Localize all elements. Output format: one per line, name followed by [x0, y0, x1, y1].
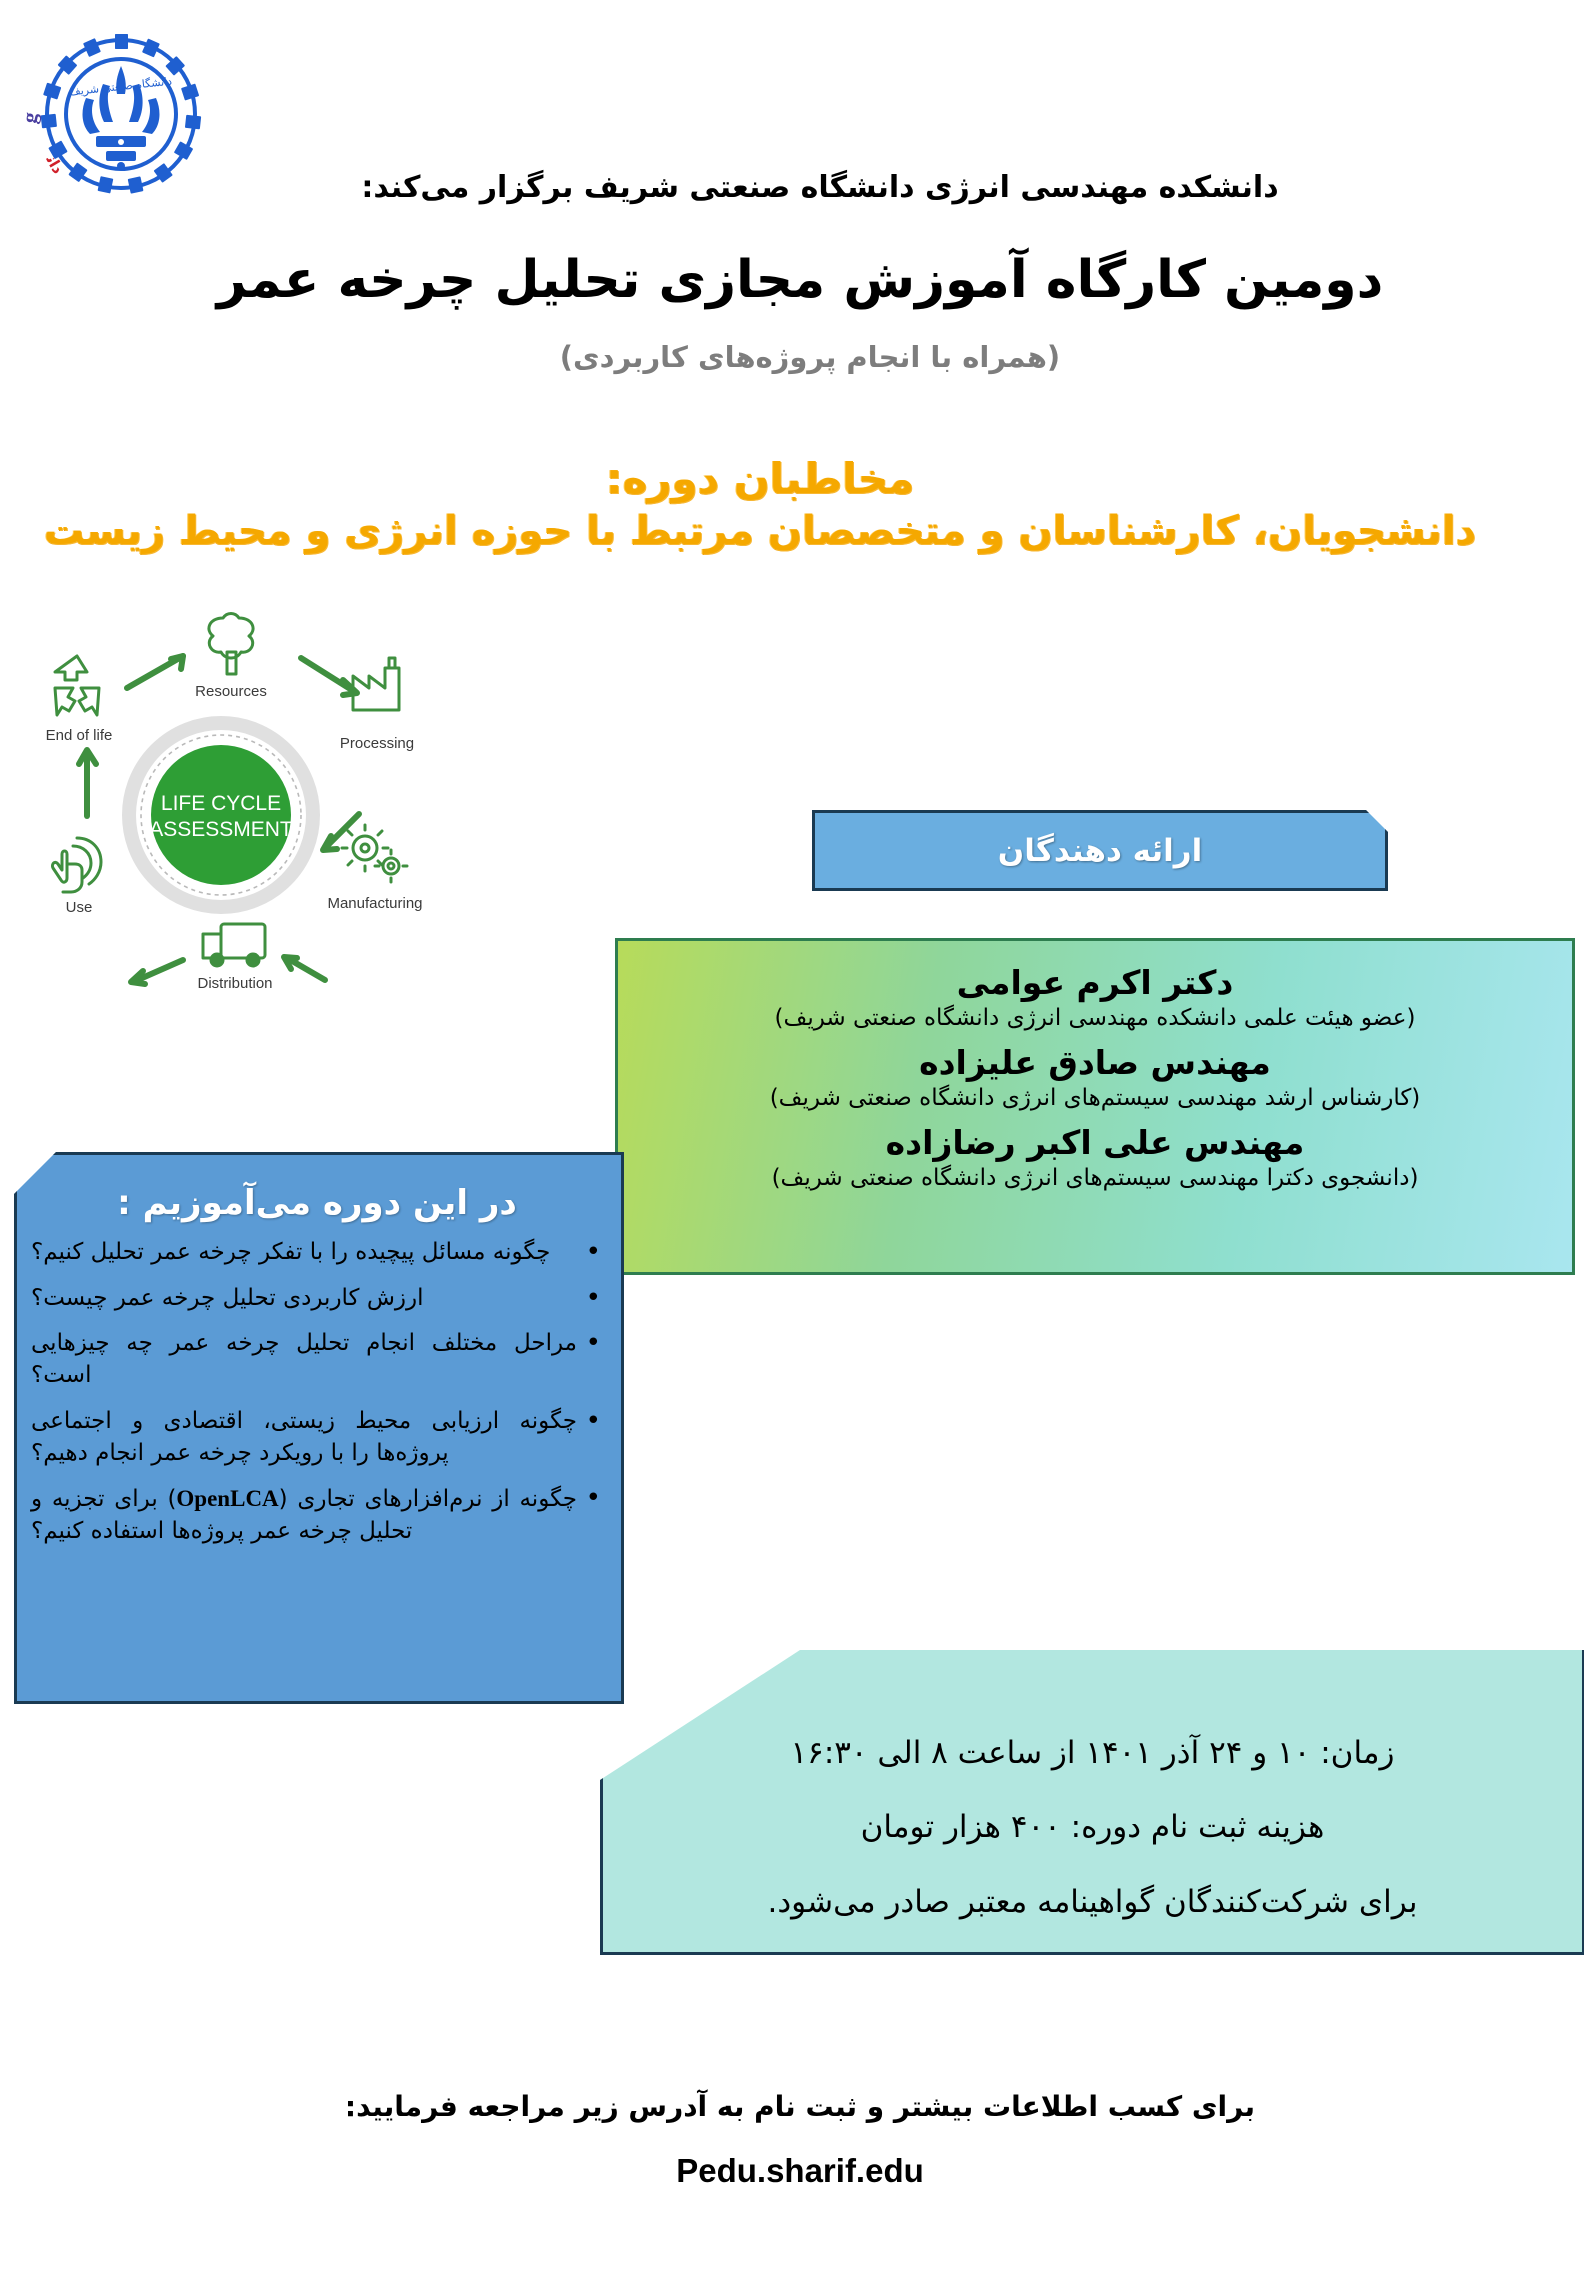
- stage-label-resources: Resources: [195, 683, 267, 700]
- registration-url[interactable]: Pedu.sharif.edu: [120, 2152, 1480, 2190]
- presenter-name: دکتر اکرم عوامی: [640, 963, 1550, 1002]
- presenter-entry: مهندس علی اکبر رضازاده (دانشجوی دکترا مه…: [640, 1123, 1550, 1193]
- stage-label-end-of-life: End of life: [46, 727, 113, 744]
- page-subtitle: (همراه با انجام پروژه‌های کاربردی): [220, 340, 1400, 374]
- presenter-affiliation: (کارشناس ارشد مهندسی سیستم‌های انرژی دان…: [640, 1084, 1550, 1113]
- lca-center-line1: LIFE CYCLE: [161, 792, 281, 815]
- list-item: چگونه از نرم‌افزارهای تجاری (OpenLCA) بر…: [31, 1483, 603, 1547]
- presenter-entry: دکتر اکرم عوامی (عضو هیئت علمی دانشکده م…: [640, 963, 1550, 1033]
- audience-block: مخاطبان دوره: دانشجویان، کارشناسان و متخ…: [20, 452, 1500, 557]
- stage-label-manufacturing: Manufacturing: [327, 895, 422, 912]
- gears-icon: [342, 825, 407, 882]
- university-logo: Department of Energy Engineering دانشکده…: [18, 14, 223, 214]
- presenters-panel: دکتر اکرم عوامی (عضو هیئت علمی دانشکده م…: [615, 938, 1575, 1275]
- presenter-affiliation: (عضو هیئت علمی دانشکده مهندسی انرژی دانش…: [640, 1004, 1550, 1033]
- audience-heading: مخاطبان دوره:: [20, 452, 1500, 506]
- list-item: ارزش کاربردی تحلیل چرخه عمر چیست؟: [31, 1283, 603, 1315]
- presenters-header-label: ارائه دهندگان: [998, 833, 1202, 869]
- stage-label-use: Use: [66, 899, 93, 916]
- audience-description: دانشجویان، کارشناسان و متخصصان مرتبط با …: [20, 506, 1500, 557]
- hand-click-icon: [52, 838, 101, 892]
- lca-center-line2: ASSESSMENT: [149, 818, 293, 841]
- presenters-header-tag: ارائه دهندگان: [818, 810, 1388, 885]
- footer-note: برای کسب اطلاعات بیشتر و ثبت نام به آدرس…: [120, 2090, 1480, 2123]
- page-title: دومین کارگاه آموزش مجازی تحلیل چرخه عمر: [180, 248, 1420, 313]
- lca-center-circle: [151, 745, 291, 885]
- recycle-icon: [55, 656, 99, 715]
- presenter-name: مهندس صادق علیزاده: [640, 1043, 1550, 1082]
- list-item: مراحل مختلف انجام تحلیل چرخه عمر چه چیزه…: [31, 1328, 603, 1391]
- course-details-panel: زمان: ۱۰ و ۲۴ آذر ۱۴۰۱ از ساعت ۸ الی ۱۶:…: [600, 1610, 1584, 1955]
- presenter-affiliation: (دانشجوی دکترا مهندسی سیستم‌های انرژی دا…: [640, 1164, 1550, 1193]
- presenter-name: مهندس علی اکبر رضازاده: [640, 1123, 1550, 1162]
- tree-icon: [209, 614, 253, 675]
- software-name-openlca: OpenLCA: [176, 1486, 278, 1511]
- course-topics-title: در این دوره می‌آموزیم :: [31, 1183, 603, 1223]
- certificate-note: برای شرکت‌کنندگان گواهینامه معتبر صادر م…: [649, 1882, 1536, 1922]
- course-topics-list: چگونه مسائل پیچیده را با تفکر چرخه عمر ت…: [31, 1237, 603, 1548]
- svg-text:Department of Energy Engineeri: Department of Energy Engineering: [18, 14, 43, 125]
- presenter-entry: مهندس صادق علیزاده (کارشناس ارشد مهندسی …: [640, 1043, 1550, 1113]
- list-item: چگونه مسائل پیچیده را با تفکر چرخه عمر ت…: [31, 1237, 603, 1269]
- host-line: دانشکده مهندسی انرژی دانشگاه صنعتی شریف …: [220, 168, 1420, 207]
- truck-icon: [203, 924, 265, 966]
- course-topics-panel: در این دوره می‌آموزیم : چگونه مسائل پیچی…: [14, 1152, 624, 1704]
- stage-label-distribution: Distribution: [197, 975, 272, 992]
- course-fee: هزینه ثبت نام دوره: ۴۰۰ هزار تومان: [649, 1807, 1536, 1847]
- stage-label-processing: Processing: [340, 735, 414, 752]
- course-schedule: زمان: ۱۰ و ۲۴ آذر ۱۴۰۱ از ساعت ۸ الی ۱۶:…: [649, 1733, 1536, 1773]
- topic-text-before: چگونه از نرم‌افزارهای تجاری (: [279, 1486, 577, 1512]
- list-item: چگونه ارزیابی محیط زیستی، اقتصادی و اجتم…: [31, 1406, 603, 1469]
- factory-icon: [353, 658, 399, 710]
- life-cycle-assessment-diagram: LIFE CYCLE ASSESSMENT Resources Processi…: [25, 600, 455, 1130]
